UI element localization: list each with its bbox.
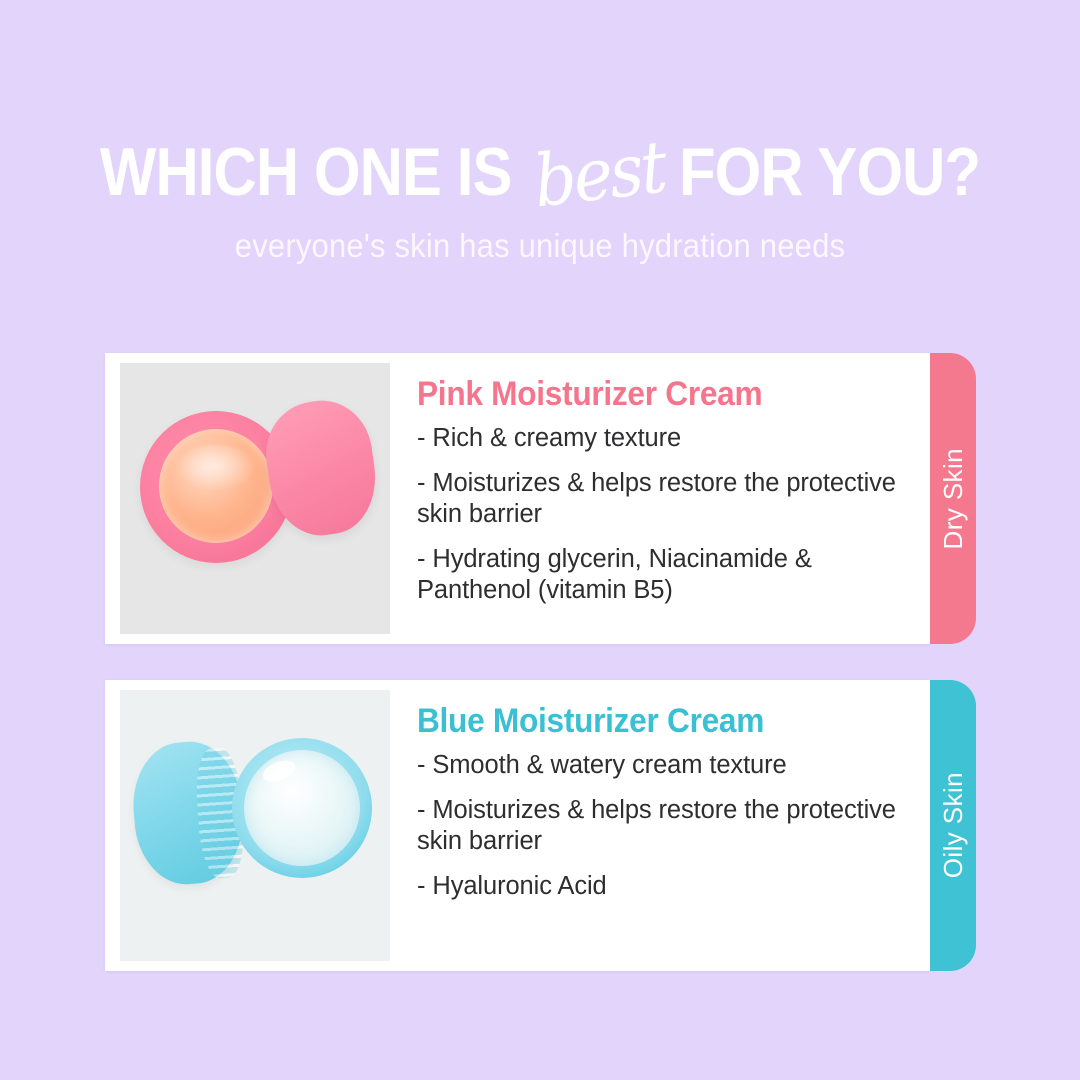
headline-part-1: WHICH ONE IS [100, 133, 512, 211]
page-subtitle: everyone's skin has unique hydration nee… [32, 227, 1047, 265]
feature-item: - Moisturizes & helps restore the protec… [417, 468, 908, 530]
page-title: WHICH ONE IS best FOR YOU? [65, 128, 1015, 211]
skin-type-tab-label: Oily Skin [938, 772, 969, 878]
feature-item: - Hydrating glycerin, Niacinamide & Pant… [417, 544, 908, 606]
product-photo-pink [120, 363, 390, 634]
skin-type-tab-label: Dry Skin [938, 448, 969, 549]
product-title-pink: Pink Moisturizer Cream [417, 375, 874, 413]
headline-part-2: FOR YOU? [679, 133, 980, 211]
product-info-pink: Pink Moisturizer Cream - Rich & creamy t… [390, 353, 930, 620]
product-card-blue[interactable]: Blue Moisturizer Cream - Smooth & watery… [105, 680, 930, 971]
pink-cream-gloss-icon [175, 445, 257, 491]
skin-type-tab-dry[interactable]: Dry Skin [930, 353, 976, 644]
feature-item: - Rich & creamy texture [417, 423, 908, 454]
product-photo-blue [120, 690, 390, 961]
feature-item: - Smooth & watery cream texture [417, 750, 908, 781]
header: WHICH ONE IS best FOR YOU? everyone's sk… [0, 128, 1080, 265]
skin-type-tab-oily[interactable]: Oily Skin [930, 680, 976, 971]
feature-item: - Hyaluronic Acid [417, 871, 908, 902]
product-card-pink[interactable]: Pink Moisturizer Cream - Rich & creamy t… [105, 353, 930, 644]
product-info-blue: Blue Moisturizer Cream - Smooth & watery… [390, 680, 930, 916]
product-title-blue: Blue Moisturizer Cream [417, 702, 874, 740]
feature-item: - Moisturizes & helps restore the protec… [417, 795, 908, 857]
blue-cream-icon [244, 750, 360, 866]
headline-script-word: best [530, 127, 667, 220]
